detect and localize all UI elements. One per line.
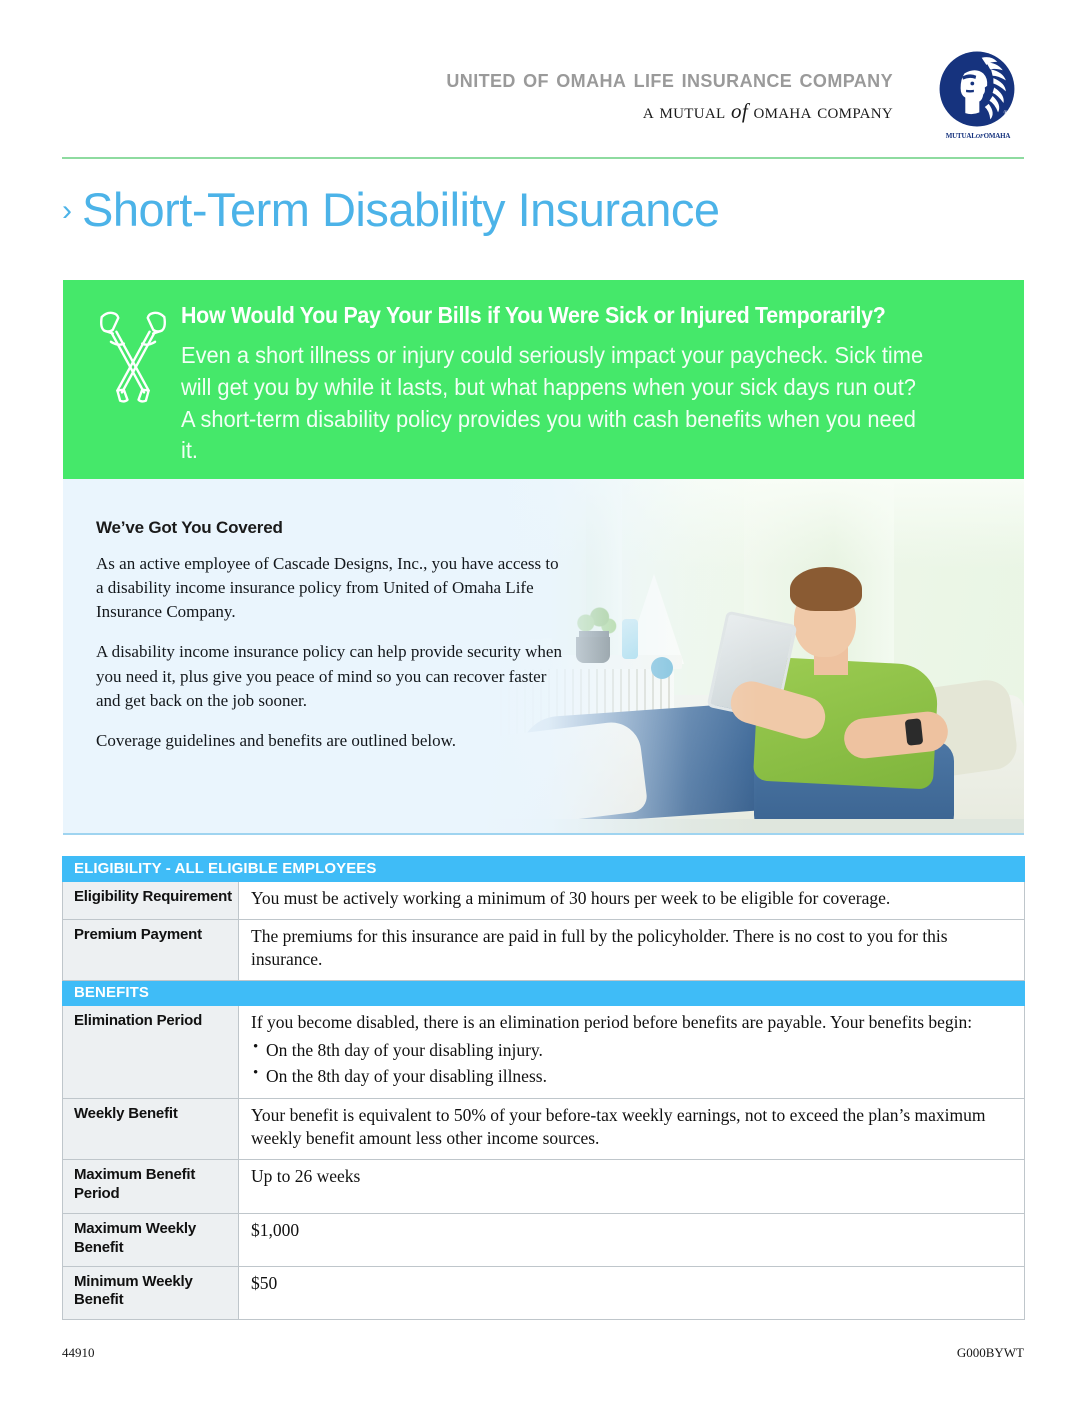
intro-panel-bottom-border (63, 833, 1024, 835)
logo-wordmark: MutualofOmaha (932, 130, 1024, 141)
intro-paragraph-2: A disability income insurance policy can… (96, 640, 566, 712)
section-title-eligibility: ELIGIBILITY - ALL ELIGIBLE EMPLOYEES (63, 857, 1025, 882)
header-company-block: United of Omaha Life Insurance Company A… (446, 66, 893, 124)
company-tagline-pre: A Mutual (643, 99, 726, 123)
document-footer: 44910 G000BYWT (62, 1345, 1024, 1361)
chevron-right-icon: › (62, 196, 72, 226)
row-bullet: On the 8th day of your disabling illness… (251, 1064, 1014, 1089)
banner-body: Even a short illness or injury could ser… (181, 340, 933, 468)
company-tagline-of: of (731, 99, 748, 123)
row-value-text: If you become disabled, there is an elim… (251, 1012, 972, 1032)
header-divider (62, 157, 1024, 159)
document-header: United of Omaha Life Insurance Company A… (0, 0, 1088, 158)
photo-hair (790, 567, 862, 611)
row-label: Minimum Weekly Benefit (63, 1266, 239, 1319)
document-page: United of Omaha Life Insurance Company A… (0, 0, 1088, 1408)
svg-text:®: ® (1004, 109, 1008, 116)
row-label: Maximum Benefit Period (63, 1160, 239, 1214)
highlight-banner: How Would You Pay Your Bills if You Were… (63, 280, 1024, 479)
logo-wordmark-pre: Mutual (946, 130, 976, 141)
section-title-benefits: BENEFITS (63, 981, 1025, 1006)
table-row: Elimination Period If you become disable… (63, 1006, 1025, 1099)
row-value: You must be actively working a minimum o… (239, 882, 1025, 920)
photo-mug (576, 637, 610, 663)
photo-watch (905, 718, 924, 746)
row-label: Elimination Period (63, 1006, 239, 1099)
crutches-icon (63, 280, 181, 415)
mutual-of-omaha-logo: ® MutualofOmaha (928, 50, 1028, 150)
row-value-elimination: If you become disabled, there is an elim… (239, 1006, 1025, 1099)
banner-heading: How Would You Pay Your Bills if You Were… (181, 302, 933, 330)
row-label: Weekly Benefit (63, 1099, 239, 1160)
company-tagline-post: Omaha Company (754, 99, 893, 123)
omaha-chief-circle-icon: ® (938, 50, 1016, 128)
table-row: Maximum Benefit Period Up to 26 weeks (63, 1160, 1025, 1214)
company-name: United of Omaha Life Insurance Company (446, 66, 893, 92)
row-label: Maximum Weekly Benefit (63, 1214, 239, 1267)
row-bullet-list: On the 8th day of your disabling injury.… (251, 1038, 1014, 1089)
banner-text-block: How Would You Pay Your Bills if You Were… (181, 280, 1024, 467)
footer-code: G000BYWT (957, 1345, 1024, 1361)
row-bullet: On the 8th day of your disabling injury. (251, 1038, 1014, 1063)
company-tagline: A Mutual of Omaha Company (446, 99, 893, 124)
row-value: $50 (239, 1266, 1025, 1319)
logo-wordmark-of: of (976, 130, 984, 140)
table-row: Eligibility Requirement You must be acti… (63, 882, 1025, 920)
intro-paragraph-1: As an active employee of Cascade Designs… (96, 552, 566, 624)
row-value: $1,000 (239, 1214, 1025, 1267)
row-value: The premiums for this insurance are paid… (239, 920, 1025, 981)
row-label: Premium Payment (63, 920, 239, 981)
table-section-header: ELIGIBILITY - ALL ELIGIBLE EMPLOYEES (63, 857, 1025, 882)
photo-blue-ball (651, 657, 673, 679)
benefits-table: ELIGIBILITY - ALL ELIGIBLE EMPLOYEES Eli… (62, 856, 1025, 1320)
table-row: Weekly Benefit Your benefit is equivalen… (63, 1099, 1025, 1160)
page-title-row: › Short-Term Disability Insurance (62, 186, 720, 233)
row-value: Your benefit is equivalent to 50% of you… (239, 1099, 1025, 1160)
photo-bottle (622, 619, 638, 659)
table-row: Minimum Weekly Benefit $50 (63, 1266, 1025, 1319)
footer-form-number: 44910 (62, 1345, 95, 1361)
table-section-header: BENEFITS (63, 981, 1025, 1006)
row-label: Eligibility Requirement (63, 882, 239, 920)
page-title: Short-Term Disability Insurance (82, 186, 720, 233)
table-row: Maximum Weekly Benefit $1,000 (63, 1214, 1025, 1267)
intro-copy: We’ve Got You Covered As an active emplo… (96, 518, 566, 753)
intro-panel: We’ve Got You Covered As an active emplo… (63, 479, 1024, 835)
row-value: Up to 26 weeks (239, 1160, 1025, 1214)
table-row: Premium Payment The premiums for this in… (63, 920, 1025, 981)
intro-paragraph-3: Coverage guidelines and benefits are out… (96, 729, 566, 753)
intro-heading: We’ve Got You Covered (96, 518, 566, 538)
logo-wordmark-post: Omaha (984, 130, 1011, 141)
